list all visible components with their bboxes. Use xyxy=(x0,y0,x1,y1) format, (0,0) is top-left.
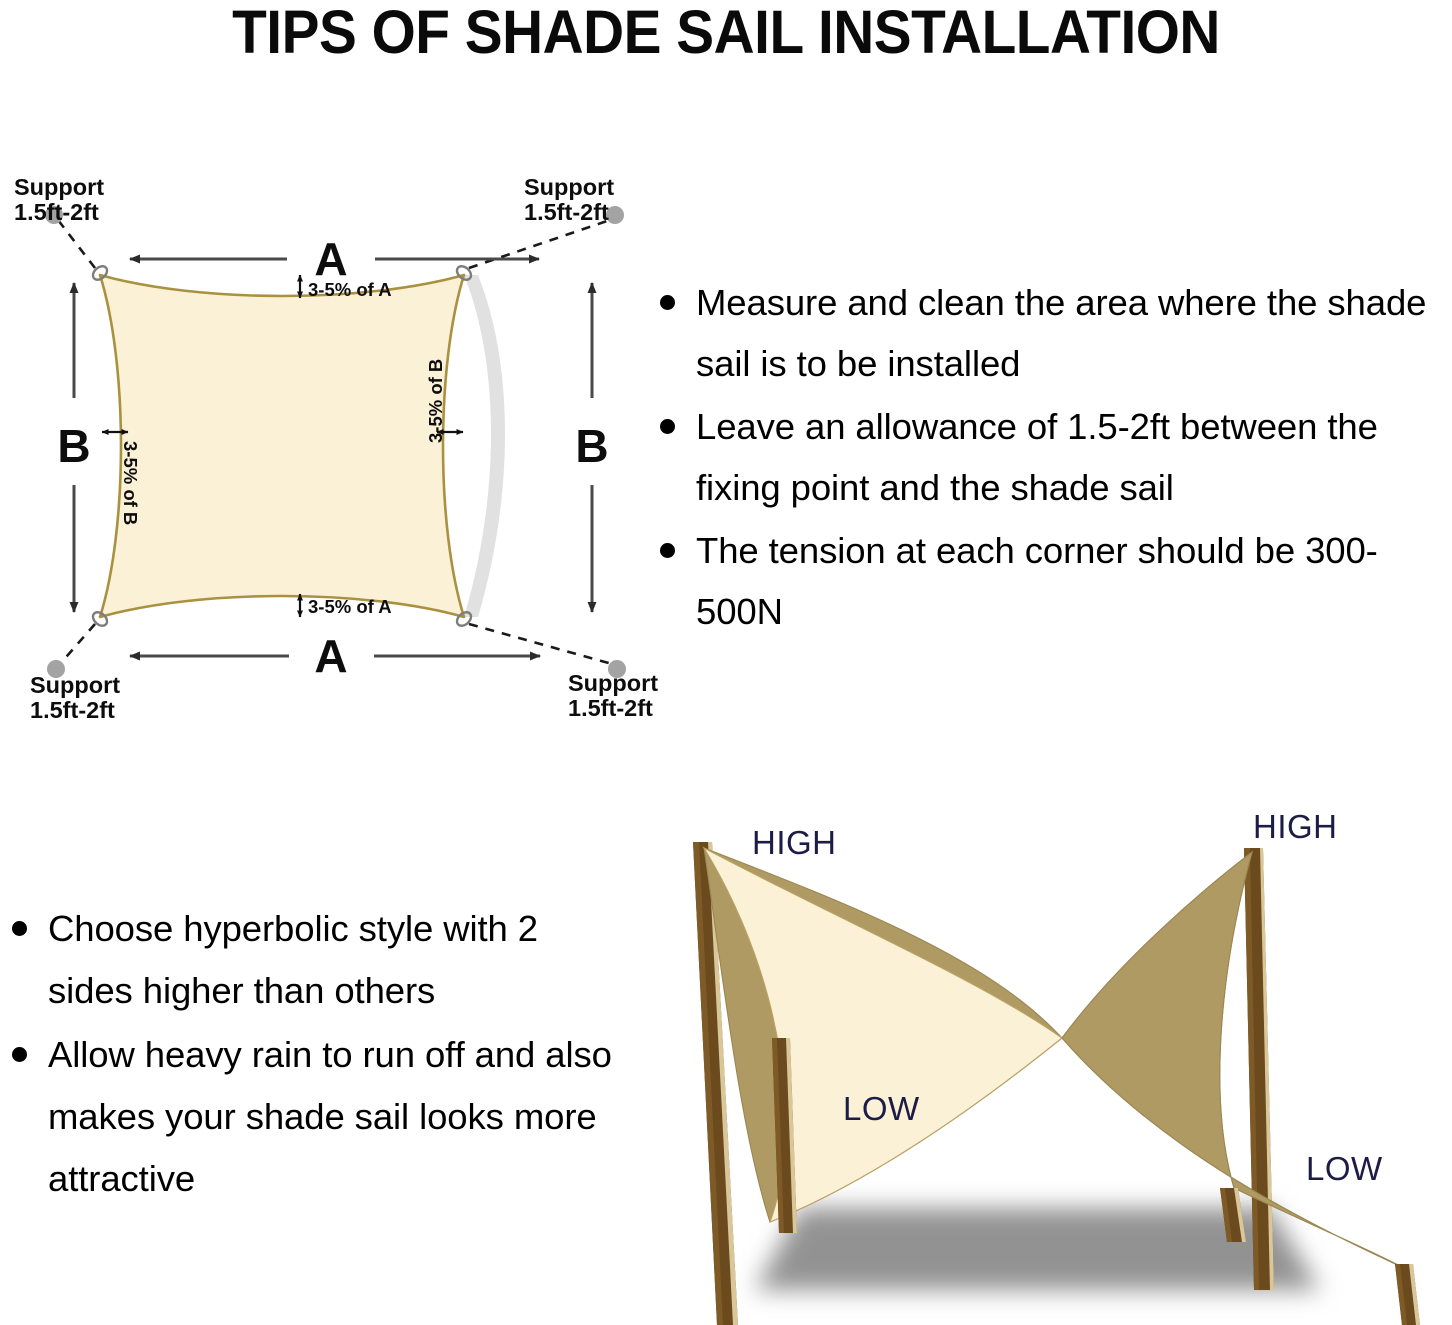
dimension-line-b-left: B xyxy=(57,283,90,612)
list-item-label: Choose hyperbolic style with 2 sides hig… xyxy=(48,898,624,1022)
list-item-label: Measure and clean the area where the sha… xyxy=(696,272,1452,394)
curve-depth-label-top: 3-5% of A xyxy=(308,279,392,300)
label-high-right: HIGH xyxy=(1253,808,1338,846)
label-low-left: LOW xyxy=(843,1090,920,1128)
installation-tips-list-bottom: Choose hyperbolic style with 2 sides hig… xyxy=(4,898,624,1212)
curve-depth-label-left: 3-5% of B xyxy=(120,441,141,525)
dimension-line-a-bottom: A xyxy=(130,630,540,682)
curve-depth-label-right: 3-5% of B xyxy=(425,359,446,443)
list-item: The tension at each corner should be 300… xyxy=(652,520,1452,642)
support-label-top-left-line2: 1.5ft-2ft xyxy=(14,199,99,225)
curve-depth-label-bottom: 3-5% of A xyxy=(308,596,392,617)
sail-edge-shadow xyxy=(464,275,505,617)
support-label-bottom-right-line2: 1.5ft-2ft xyxy=(568,695,653,721)
curve-depth-left: 3-5% of B xyxy=(102,432,141,525)
installation-tips-list-top: Measure and clean the area where the sha… xyxy=(652,272,1452,644)
hyperbolic-sail-illustration xyxy=(660,790,1452,1325)
list-item: Measure and clean the area where the sha… xyxy=(652,272,1452,394)
label-high-left: HIGH xyxy=(752,824,837,862)
list-item: Leave an allowance of 1.5-2ft between th… xyxy=(652,396,1452,518)
support-label-top-right-line1: Support xyxy=(524,174,614,200)
list-item: Allow heavy rain to run off and also mak… xyxy=(4,1024,624,1210)
curve-depth-right: 3-5% of B xyxy=(425,359,463,443)
support-label-top-right-line2: 1.5ft-2ft xyxy=(524,199,609,225)
label-low-right: LOW xyxy=(1306,1150,1383,1188)
support-label-top-left-line1: Support xyxy=(14,174,104,200)
dimension-label-b-right: B xyxy=(575,420,608,472)
curve-depth-bottom: 3-5% of A xyxy=(300,594,392,617)
dimension-label-a-bottom: A xyxy=(314,630,347,682)
page-title: TIPS OF SHADE SAIL INSTALLATION xyxy=(51,0,1401,64)
sail-shape xyxy=(100,275,464,617)
list-item-label: Allow heavy rain to run off and also mak… xyxy=(48,1024,624,1210)
support-label-bottom-right-line1: Support xyxy=(568,670,658,696)
curve-depth-top: 3-5% of A xyxy=(300,275,392,300)
dimension-line-b-right: B xyxy=(575,283,608,612)
dimension-label-b-left: B xyxy=(57,420,90,472)
post-low-right xyxy=(1395,1264,1420,1325)
rectangular-sail-dimension-diagram: A A B B 3-5% of A 3-5% of A xyxy=(0,165,660,735)
dimension-label-a-top: A xyxy=(314,233,347,285)
support-label-bottom-left-line1: Support xyxy=(30,672,120,698)
list-item-label: Leave an allowance of 1.5-2ft between th… xyxy=(696,396,1452,518)
list-item-label: The tension at each corner should be 300… xyxy=(696,520,1452,642)
list-item: Choose hyperbolic style with 2 sides hig… xyxy=(4,898,624,1022)
support-label-bottom-left-line2: 1.5ft-2ft xyxy=(30,697,115,723)
